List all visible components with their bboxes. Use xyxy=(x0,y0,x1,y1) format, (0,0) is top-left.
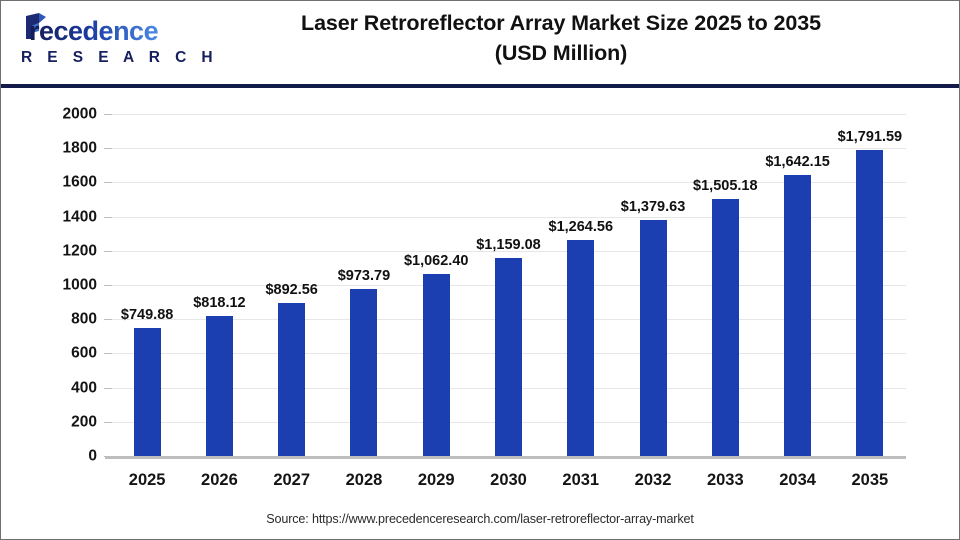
y-axis-tick xyxy=(104,148,112,149)
y-axis-tick xyxy=(104,285,112,286)
y-axis-tick-label: 1400 xyxy=(35,209,97,225)
y-axis-tick xyxy=(104,422,112,423)
logo-wordmark-icon: recedence xyxy=(17,11,177,51)
precedence-research-logo: recedence R E S E A R C H xyxy=(17,11,177,73)
y-axis-tick-label: 1200 xyxy=(35,243,97,259)
gridline xyxy=(111,114,906,115)
bar-value-label: $1,791.59 xyxy=(838,130,903,145)
page-title-line-1: Laser Retroreflector Array Market Size 2… xyxy=(191,9,931,39)
chart-header: recedence R E S E A R C H Laser Retroref… xyxy=(1,1,959,85)
y-axis-tick-label: 200 xyxy=(35,414,97,430)
x-axis-tick-label: 2029 xyxy=(418,472,455,489)
bar-value-label: $1,159.08 xyxy=(476,238,541,253)
y-axis-tick-label: 1000 xyxy=(35,277,97,293)
logo-subtitle: R E S E A R C H xyxy=(21,49,218,67)
x-axis-tick-label: 2034 xyxy=(779,472,816,489)
bar-value-label: $1,264.56 xyxy=(549,220,614,235)
y-axis-tick xyxy=(104,217,112,218)
y-axis-tick-label: 1800 xyxy=(35,140,97,156)
bar[interactable] xyxy=(567,240,594,456)
y-axis-tick xyxy=(104,353,112,354)
bar[interactable] xyxy=(712,199,739,456)
page-title: Laser Retroreflector Array Market Size 2… xyxy=(191,9,931,68)
bar-value-label: $1,062.40 xyxy=(404,254,469,269)
bar[interactable] xyxy=(206,316,233,456)
bar-value-label: $1,379.63 xyxy=(621,200,686,215)
x-axis-tick-label: 2030 xyxy=(490,472,527,489)
y-axis-tick-label: 0 xyxy=(35,448,97,464)
y-axis-tick xyxy=(104,114,112,115)
bar[interactable] xyxy=(856,150,883,456)
bar[interactable] xyxy=(350,289,377,456)
page-title-line-2: (USD Million) xyxy=(191,39,931,69)
y-axis-tick xyxy=(104,319,112,320)
svg-text:recedence: recedence xyxy=(29,16,159,46)
bar[interactable] xyxy=(134,328,161,456)
x-axis-tick-label: 2026 xyxy=(201,472,238,489)
y-axis-tick xyxy=(104,182,112,183)
bar[interactable] xyxy=(784,175,811,456)
y-axis-tick xyxy=(104,251,112,252)
y-axis-tick-label: 2000 xyxy=(35,106,97,122)
x-axis-tick-label: 2027 xyxy=(273,472,310,489)
y-axis-tick-label: 400 xyxy=(35,380,97,396)
bar[interactable] xyxy=(495,258,522,456)
bar-value-label: $892.56 xyxy=(265,283,317,298)
bar[interactable] xyxy=(640,220,667,456)
x-axis-tick-label: 2025 xyxy=(129,472,166,489)
x-axis-tick-label: 2035 xyxy=(852,472,889,489)
gridline xyxy=(111,148,906,149)
x-axis-tick-label: 2028 xyxy=(346,472,383,489)
bar-value-label: $1,505.18 xyxy=(693,179,758,194)
bar[interactable] xyxy=(278,303,305,456)
bar-value-label: $818.12 xyxy=(193,296,245,311)
y-axis-tick xyxy=(104,388,112,389)
x-axis-tick-label: 2033 xyxy=(707,472,744,489)
x-axis-tick-label: 2032 xyxy=(635,472,672,489)
x-axis-line xyxy=(105,456,906,459)
bar[interactable] xyxy=(423,274,450,456)
source-caption: Source: https://www.precedenceresearch.c… xyxy=(1,512,959,526)
y-axis-tick-label: 1600 xyxy=(35,175,97,191)
y-axis-tick-label: 600 xyxy=(35,346,97,362)
chart-page: recedence R E S E A R C H Laser Retroref… xyxy=(0,0,960,540)
bar-chart: 0200400600800100012001400160018002000 $7… xyxy=(1,88,959,539)
bar-value-label: $749.88 xyxy=(121,308,173,323)
x-axis-tick-label: 2031 xyxy=(562,472,599,489)
bar-value-label: $1,642.15 xyxy=(765,155,830,170)
bar-value-label: $973.79 xyxy=(338,269,390,284)
y-axis-tick-label: 800 xyxy=(35,311,97,327)
